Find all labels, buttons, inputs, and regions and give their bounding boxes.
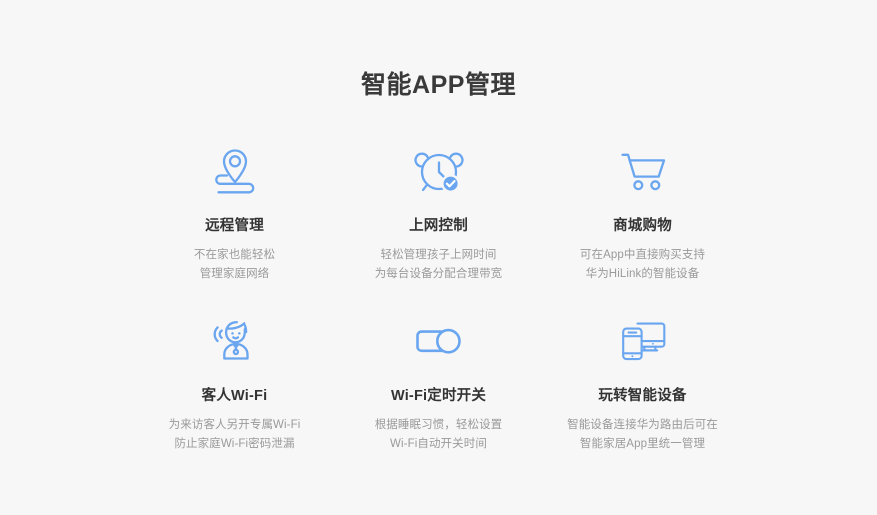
page-root: 智能APP管理 远程管理 不在家也能轻松 管理家庭网络 bbox=[0, 0, 877, 515]
feature-title: 客人Wi-Fi bbox=[202, 386, 268, 406]
feature-card-smart-devices[interactable]: 玩转智能设备 智能设备连接华为路由后可在 智能家居App里统一管理 bbox=[541, 310, 744, 454]
feature-description-line: 为每台设备分配合理带宽 bbox=[375, 265, 503, 284]
feature-row: 客人Wi-Fi 为来访客人另开专属Wi-Fi 防止家庭Wi-Fi密码泄漏 Wi-… bbox=[133, 310, 744, 454]
feature-card-wifi-timer-switch[interactable]: Wi-Fi定时开关 根据睡眠习惯，轻松设置 Wi-Fi自动开关时间 bbox=[337, 310, 540, 454]
feature-card-store-shopping[interactable]: 商城购物 可在App中直接购买支持 华为HiLink的智能设备 bbox=[541, 140, 744, 284]
feature-description: 可在App中直接购买支持 华为HiLink的智能设备 bbox=[580, 246, 705, 284]
feature-description-line: 根据睡眠习惯，轻松设置 bbox=[375, 416, 503, 435]
feature-description: 智能设备连接华为路由后可在 智能家居App里统一管理 bbox=[567, 416, 718, 454]
feature-description: 不在家也能轻松 管理家庭网络 bbox=[194, 246, 275, 284]
feature-description-line: 轻松管理孩子上网时间 bbox=[375, 246, 503, 265]
feature-description-line: 为来访客人另开专属Wi-Fi bbox=[169, 416, 301, 435]
feature-description-line: 智能家居App里统一管理 bbox=[567, 435, 718, 454]
feature-description-line: 智能设备连接华为路由后可在 bbox=[567, 416, 718, 435]
feature-description: 轻松管理孩子上网时间 为每台设备分配合理带宽 bbox=[375, 246, 503, 284]
alarm-clock-check-icon bbox=[410, 140, 468, 202]
feature-grid: 远程管理 不在家也能轻松 管理家庭网络 bbox=[133, 140, 744, 454]
feature-row: 远程管理 不在家也能轻松 管理家庭网络 bbox=[133, 140, 744, 284]
feature-description-line: 防止家庭Wi-Fi密码泄漏 bbox=[169, 435, 301, 454]
feature-description-line: Wi-Fi自动开关时间 bbox=[375, 435, 503, 454]
toggle-switch-icon bbox=[410, 310, 468, 372]
guest-person-wifi-icon bbox=[206, 310, 264, 372]
feature-description-line: 可在App中直接购买支持 bbox=[580, 246, 705, 265]
feature-description: 根据睡眠习惯，轻松设置 Wi-Fi自动开关时间 bbox=[375, 416, 503, 454]
feature-card-internet-control[interactable]: 上网控制 轻松管理孩子上网时间 为每台设备分配合理带宽 bbox=[337, 140, 540, 284]
feature-title: 上网控制 bbox=[409, 216, 468, 236]
feature-title: 商城购物 bbox=[613, 216, 672, 236]
shopping-cart-icon bbox=[614, 140, 672, 202]
location-pin-road-icon bbox=[206, 140, 264, 202]
feature-description-line: 华为HiLink的智能设备 bbox=[580, 265, 705, 284]
feature-description-line: 不在家也能轻松 bbox=[194, 246, 275, 265]
page-title: 智能APP管理 bbox=[0, 68, 877, 102]
feature-title: Wi-Fi定时开关 bbox=[391, 386, 486, 406]
feature-description-line: 管理家庭网络 bbox=[194, 265, 275, 284]
feature-title: 玩转智能设备 bbox=[598, 386, 686, 406]
phone-monitor-devices-icon bbox=[614, 310, 672, 372]
feature-card-guest-wifi[interactable]: 客人Wi-Fi 为来访客人另开专属Wi-Fi 防止家庭Wi-Fi密码泄漏 bbox=[133, 310, 336, 454]
feature-card-remote-management[interactable]: 远程管理 不在家也能轻松 管理家庭网络 bbox=[133, 140, 336, 284]
feature-description: 为来访客人另开专属Wi-Fi 防止家庭Wi-Fi密码泄漏 bbox=[169, 416, 301, 454]
feature-title: 远程管理 bbox=[205, 216, 264, 236]
